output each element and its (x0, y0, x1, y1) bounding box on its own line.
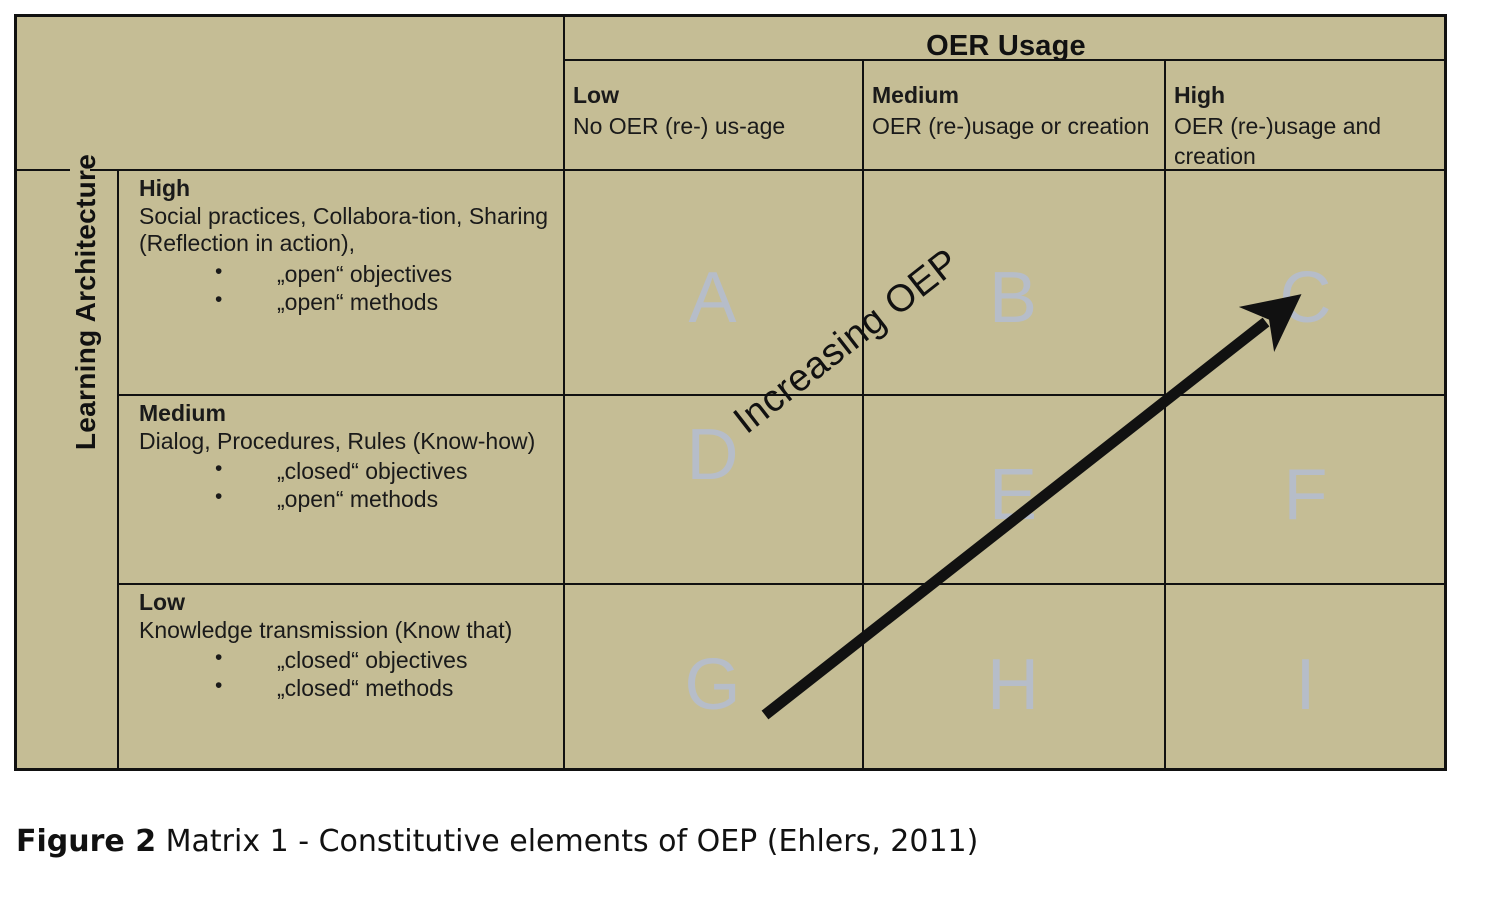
figure-number: Figure 2 (16, 824, 156, 859)
column-header-medium-level: Medium (872, 80, 1154, 111)
cell-D: D (563, 414, 862, 496)
list-item: „closed“ methods (215, 674, 562, 702)
rule-row-medium-low (117, 583, 1447, 585)
row-header-low-description: Knowledge transmission (Know that) (139, 617, 562, 645)
cell-A: A (563, 257, 862, 339)
row-header-medium-level: Medium (139, 400, 562, 428)
list-item: „closed“ objectives (215, 646, 562, 674)
row-header-medium-bullets: „closed“ objectives „open“ methods (139, 457, 562, 513)
row-header-high-description: Social practices, Collabora-tion, Sharin… (139, 203, 562, 258)
row-header-medium-description: Dialog, Procedures, Rules (Know-how) (139, 428, 562, 456)
figure-caption-text: Matrix 1 - Constitutive elements of OEP … (156, 824, 978, 859)
figure-container: OER Usage Low No OER (re-) us-age Medium… (0, 0, 1488, 904)
column-header-medium: Medium OER (re-)usage or creation (862, 76, 1164, 141)
table-border-bottom (14, 768, 1447, 771)
column-header-low-level: Low (573, 80, 852, 111)
row-header-high-level: High (139, 175, 562, 203)
column-header-high-level: High (1174, 80, 1437, 111)
figure-caption: Figure 2 Matrix 1 - Constitutive element… (16, 824, 978, 859)
row-header-high: High Social practices, Collabora-tion, S… (131, 172, 568, 316)
column-header-low-description: No OER (re-) us-age (573, 111, 852, 142)
cell-E: E (862, 454, 1164, 536)
row-header-medium: Medium Dialog, Procedures, Rules (Know-h… (131, 397, 568, 513)
column-header-high: High OER (re-)usage and creation (1164, 76, 1447, 172)
cell-C: C (1164, 257, 1447, 339)
cell-G: G (563, 644, 862, 726)
column-axis-title: OER Usage (566, 30, 1446, 63)
list-item: „open“ objectives (215, 260, 562, 288)
column-header-medium-description: OER (re-)usage or creation (872, 111, 1154, 142)
table-border-top (14, 14, 1447, 17)
table-border-left (14, 14, 17, 771)
row-header-low-bullets: „closed“ objectives „closed“ methods (139, 646, 562, 702)
cell-I: I (1164, 644, 1447, 726)
oep-matrix-table: OER Usage Low No OER (re-) us-age Medium… (14, 14, 1447, 771)
rule-header-body-left (14, 169, 70, 171)
list-item: „open“ methods (215, 288, 562, 316)
column-header-high-description: OER (re-)usage and creation (1174, 111, 1437, 172)
list-item: „open“ methods (215, 485, 562, 513)
cell-H: H (862, 644, 1164, 726)
column-header-low: Low No OER (re-) us-age (563, 76, 862, 141)
row-header-low: Low Knowledge transmission (Know that) „… (131, 586, 568, 702)
cell-F: F (1164, 454, 1447, 536)
rule-axis-rowlabel (117, 169, 119, 768)
row-header-high-bullets: „open“ objectives „open“ methods (139, 260, 562, 316)
row-header-low-level: Low (139, 589, 562, 617)
row-axis-title: Learning Architecture (70, 12, 102, 592)
list-item: „closed“ objectives (215, 457, 562, 485)
